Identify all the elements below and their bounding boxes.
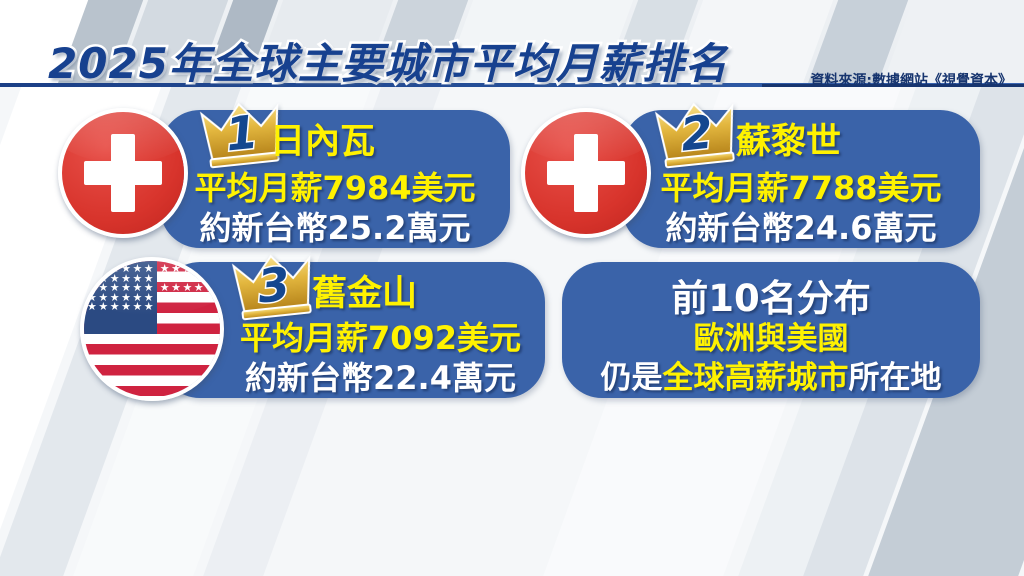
city-name: 日內瓦 [270, 113, 510, 164]
summary-highlight: 全球高薪城市 [663, 360, 849, 396]
summary-post: 所在地 [849, 360, 942, 396]
rank-number: 3 [229, 248, 319, 322]
city-name: 蘇黎世 [736, 113, 980, 164]
source-attribution: 資料來源:數據網站《視覺資本》 [810, 70, 1012, 90]
usa-flag-icon: ★★★★★★ ★★★★★ ★★★★★★ ★★★★★ ★★★★★★ ★★★★★ ★… [80, 257, 224, 401]
crown-icon: 2 [652, 98, 742, 172]
rank-number: 2 [652, 96, 742, 170]
avg-salary-twd: 約新台幣25.2萬元 [160, 203, 510, 249]
summary-pre: 仍是 [601, 360, 663, 396]
city-name: 舊金山 [312, 265, 545, 316]
avg-salary-twd: 約新台幣24.6萬元 [622, 203, 980, 249]
summary-conclusion: 仍是全球高薪城市所在地 [562, 352, 980, 397]
page-title: 2025年全球主要城市平均月薪排名 [48, 30, 728, 91]
avg-salary-twd: 約新台幣22.4萬元 [216, 353, 545, 399]
